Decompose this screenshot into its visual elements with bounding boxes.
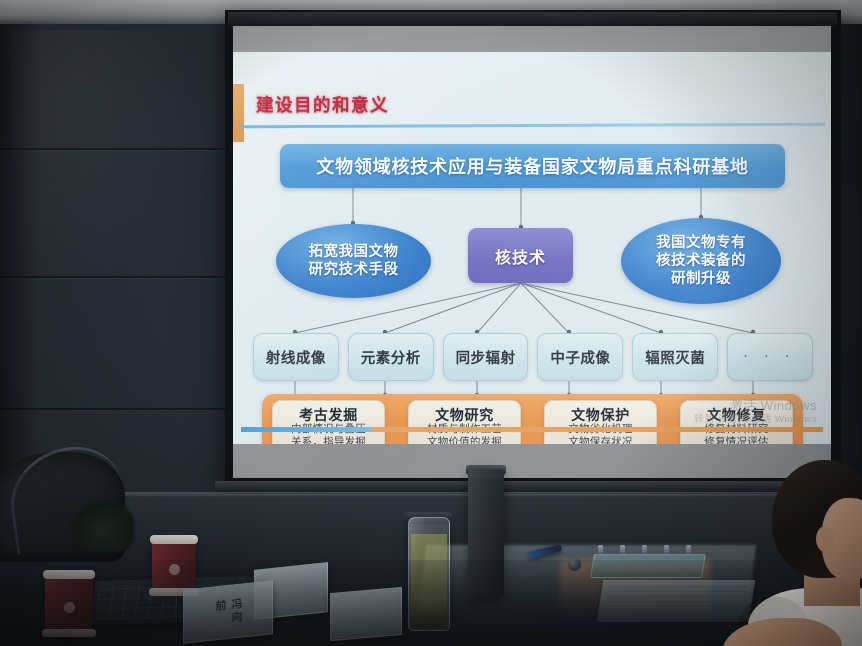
attendee-ear — [816, 526, 834, 552]
plant — [72, 502, 134, 552]
conference-room-photo: 建设目的和意义 — [0, 0, 862, 646]
watermark-line-1: 激活 Windows — [694, 398, 817, 414]
technique-box-1: 射线成像 — [253, 333, 339, 381]
application-sub2-2: 文物价值的发掘 — [427, 436, 502, 444]
application-title-2: 文物研究 — [435, 407, 494, 423]
projection-screen-surface: 建设目的和意义 — [233, 26, 831, 478]
wall-shadow — [0, 24, 40, 494]
node-left-line2: 研究技术手段 — [309, 261, 399, 279]
diagram-node-left: 拓宽我国文物 研究技术手段 — [276, 224, 431, 298]
technique-box-2: 元素分析 — [348, 333, 434, 381]
diagram-node-right: 我国文物专有 核技术装备的 研制升级 — [621, 218, 781, 304]
technique-row: 射线成像 元素分析 同步辐射 中子成像 辐照灭菌 · · · — [253, 333, 813, 381]
node-right-line3: 研制升级 — [656, 270, 746, 288]
slide-bottom-rule-blue — [241, 427, 371, 432]
application-sub2-4: 修复情况评估 — [704, 436, 768, 444]
node-left-line1: 拓宽我国文物 — [309, 243, 399, 261]
diagram-root-node: 文物领域核技术应用与装备国家文物局重点科研基地 — [280, 144, 785, 188]
application-sub2-1: 关系，指导发掘 — [291, 436, 366, 444]
slide-bottom-rule-orange — [371, 427, 823, 432]
slide-title: 建设目的和意义 — [256, 92, 389, 117]
application-box-1: 考古发掘 内部情况与叠压 关系，指导发掘 — [272, 400, 385, 444]
technique-box-4: 中子成像 — [537, 333, 623, 381]
windows-activation-watermark: 激活 Windows 转到"设置"以激活 Windows — [694, 398, 817, 426]
application-box-2: 文物研究 材质与制作工艺 文物价值的发掘 — [408, 400, 521, 444]
application-sub2-3: 文物保存状况 — [568, 436, 632, 444]
diagram-node-center: 核技术 — [468, 228, 573, 283]
technique-box-3: 同步辐射 — [443, 333, 529, 381]
node-right-line1: 我国文物专有 — [656, 234, 746, 252]
application-title-1: 考古发掘 — [299, 407, 358, 423]
title-divider-rule — [239, 123, 825, 129]
application-box-3: 文物保护 文物劣化机理 文物保存状况 — [544, 400, 657, 444]
cup-lip — [150, 535, 198, 544]
presentation-slide: 建设目的和意义 — [233, 52, 831, 444]
attendee — [730, 470, 862, 646]
node-right-line2: 核技术装备的 — [656, 252, 746, 270]
technique-box-5: 辐照灭菌 — [632, 333, 718, 381]
watermark-line-2: 转到"设置"以激活 Windows — [694, 414, 817, 426]
application-title-3: 文物保护 — [571, 407, 630, 423]
technique-box-ellipsis: · · · — [727, 333, 813, 381]
title-accent-bar — [233, 84, 244, 142]
